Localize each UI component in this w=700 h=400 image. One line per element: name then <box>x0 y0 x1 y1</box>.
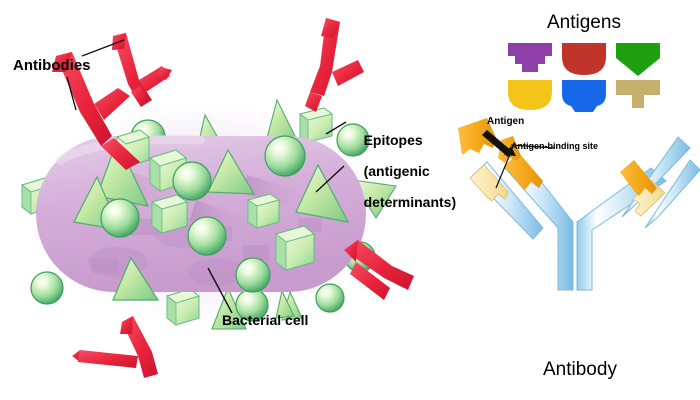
epitopes-label: Epitopes (antigenic determinants) <box>348 117 456 227</box>
epitopes-label-line2: (antigenic <box>364 163 430 179</box>
epitopes-label-line1: Epitopes <box>364 132 423 148</box>
antigens-title: Antigens <box>547 12 621 33</box>
antibodies-label: Antibodies <box>13 58 91 75</box>
antigen-swatch-grid <box>508 43 660 112</box>
antigen-swatch-tan <box>616 80 660 108</box>
antigen-binding-site-label: Antigen-binding site <box>511 141 598 151</box>
diagram-canvas: Antibodies Epitopes (antigenic determina… <box>0 0 700 400</box>
antigen-label: Antigen <box>487 116 524 127</box>
antigen-swatch-yellow <box>508 80 552 110</box>
antigen-swatch-purple <box>508 43 552 72</box>
antigen-swatch-green <box>616 43 660 76</box>
antigen-swatch-blue <box>562 80 606 112</box>
epitopes-label-line3: determinants) <box>364 194 457 210</box>
bacterial-cell-label: Bacterial cell <box>222 313 308 329</box>
antibody-title: Antibody <box>543 359 617 380</box>
antigen-swatch-red <box>562 43 606 75</box>
